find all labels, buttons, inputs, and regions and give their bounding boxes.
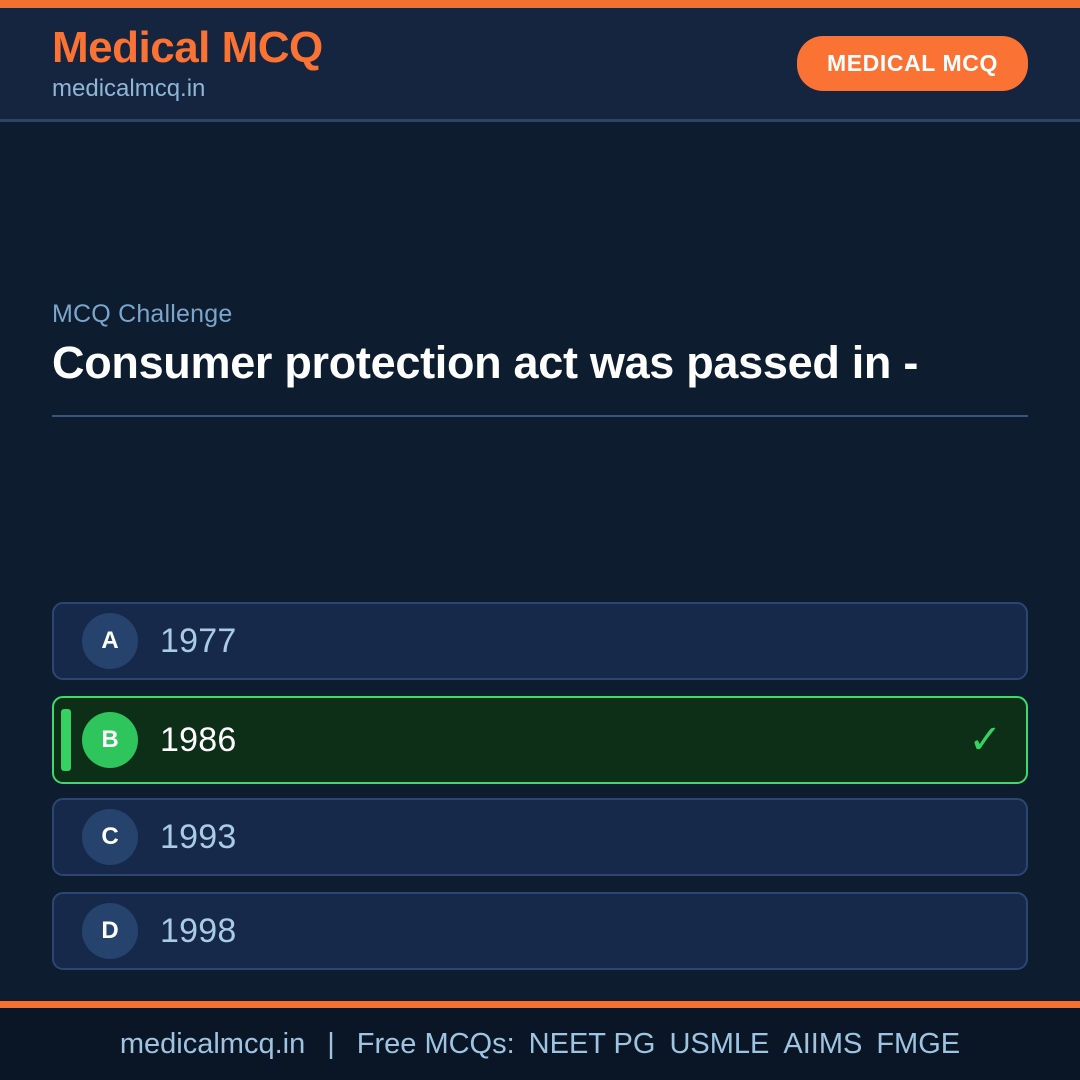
footer-inner: medicalmcq.in | Free MCQs: NEET PG USMLE… — [120, 1028, 960, 1061]
footer: medicalmcq.in | Free MCQs: NEET PG USMLE… — [0, 1008, 1080, 1080]
header: Medical MCQ medicalmcq.in MEDICAL MCQ — [0, 8, 1080, 122]
footer-exam-aiims: AIIMS — [783, 1028, 862, 1061]
options-list: A 1977 B 1986 ✓ C 1993 D 1998 — [52, 602, 1028, 986]
footer-site: medicalmcq.in — [120, 1028, 305, 1061]
question-text: Consumer protection act was passed in - — [52, 337, 932, 389]
option-b[interactable]: B 1986 ✓ — [52, 696, 1028, 784]
top-accent-bar — [0, 0, 1080, 8]
option-letter-badge: A — [82, 613, 138, 669]
mcq-card: Medical MCQ medicalmcq.in MEDICAL MCQ MC… — [0, 0, 1080, 1080]
option-label: 1993 — [160, 818, 236, 857]
footer-exam-neetpg: NEET PG — [529, 1028, 656, 1061]
footer-separator: | — [327, 1028, 335, 1061]
brand-domain: medicalmcq.in — [52, 77, 323, 101]
question-divider — [52, 415, 1028, 417]
option-c[interactable]: C 1993 — [52, 798, 1028, 876]
main-content: MCQ Challenge Consumer protection act wa… — [0, 122, 1080, 1001]
check-icon: ✓ — [968, 720, 1002, 760]
option-letter-badge: D — [82, 903, 138, 959]
option-d[interactable]: D 1998 — [52, 892, 1028, 970]
footer-free-label: Free MCQs: — [357, 1028, 515, 1061]
brand-title: Medical MCQ — [52, 26, 323, 70]
correct-accent-bar — [61, 709, 71, 771]
option-letter-badge: C — [82, 809, 138, 865]
footer-exams: NEET PG USMLE AIIMS FMGE — [515, 1028, 960, 1061]
option-a[interactable]: A 1977 — [52, 602, 1028, 680]
footer-accent-bar — [0, 1001, 1080, 1008]
option-label: 1977 — [160, 622, 236, 661]
question-block: MCQ Challenge Consumer protection act wa… — [52, 300, 1028, 417]
brand: Medical MCQ medicalmcq.in — [52, 26, 323, 101]
footer-exam-usmle: USMLE — [669, 1028, 769, 1061]
question-eyebrow: MCQ Challenge — [52, 300, 1028, 329]
option-label: 1986 — [160, 721, 236, 760]
footer-exam-fmge: FMGE — [876, 1028, 960, 1061]
option-label: 1998 — [160, 912, 236, 951]
header-badge: MEDICAL MCQ — [797, 36, 1028, 91]
option-letter-badge: B — [82, 712, 138, 768]
